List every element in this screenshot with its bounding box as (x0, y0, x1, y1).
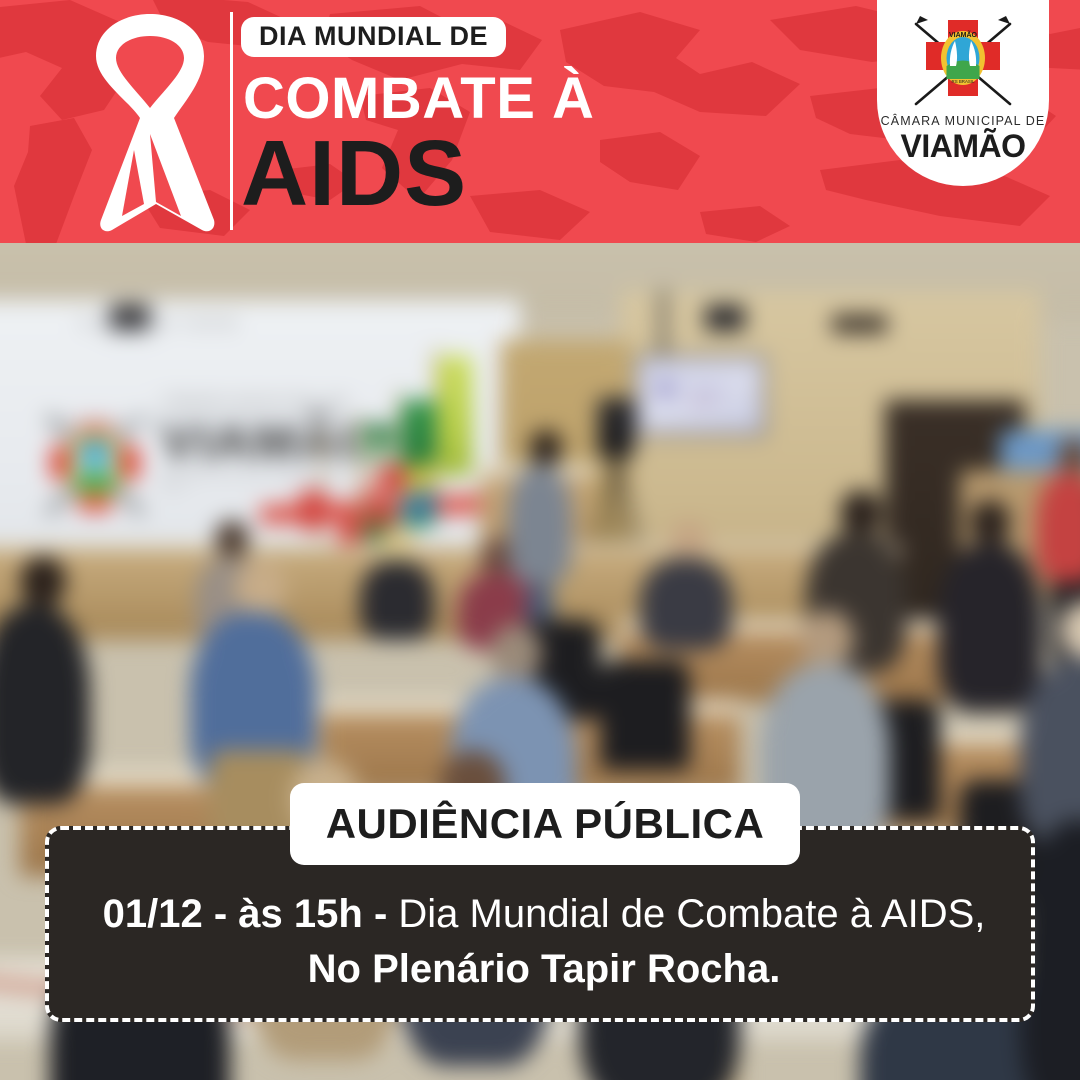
institution-logo-line-2: VIAMÃO (877, 128, 1049, 165)
wall-logo-above: CÂMARA MUNICIPAL DE (162, 394, 350, 409)
svg-text:VIAMÃO: VIAMÃO (949, 30, 978, 39)
announcement-detail-line: 01/12 - às 15h - Dia Mundial de Combate … (49, 892, 1039, 937)
announcement-date: 01/12 (103, 892, 203, 936)
wall-plenary-label: PLENÁRIO TAPIR (80, 315, 239, 331)
header-banner: DIA MUNDIAL DE COMBATE À AIDS VIAMÃO RS … (0, 0, 1080, 243)
announcement-time: às 15h (238, 892, 363, 936)
pa-speaker-icon (598, 398, 634, 458)
wall-logo-below: ESTADO DO RIO GRANDE DO SUL (162, 470, 362, 492)
announcement-location: No Plenário Tapir Rocha. (49, 947, 1039, 992)
institution-logo-badge: VIAMÃO RS BRASIL CÂMARA MUNICIPAL DE VIA… (877, 0, 1049, 186)
air-conditioner-vent-icon (832, 315, 887, 333)
announcement-separator-1: - (214, 892, 227, 936)
eyebrow-badge: DIA MUNDIAL DE (241, 17, 506, 57)
poster-canvas: CÂMARA MUNICIPAL DE VIAMÃO ESTADO DO RIO… (0, 0, 1080, 1080)
announcement-subject: Dia Mundial de Combate à AIDS, (398, 892, 985, 936)
aids-awareness-ribbon-icon (82, 8, 218, 236)
institution-logo-line-1: CÂMARA MUNICIPAL DE (877, 114, 1049, 128)
public-hearing-badge: AUDIÊNCIA PÚBLICA (290, 783, 800, 865)
headline-line-2: COMBATE À (243, 70, 594, 128)
vertical-divider-icon (230, 12, 233, 230)
announcement-separator-2: - (374, 892, 387, 936)
viamao-coat-of-arms-icon: VIAMÃO RS BRASIL (908, 12, 1018, 112)
wall-mounted-tv-icon (635, 355, 766, 436)
headline-line-3: AIDS (241, 127, 467, 220)
svg-text:RS BRASIL: RS BRASIL (952, 79, 975, 84)
